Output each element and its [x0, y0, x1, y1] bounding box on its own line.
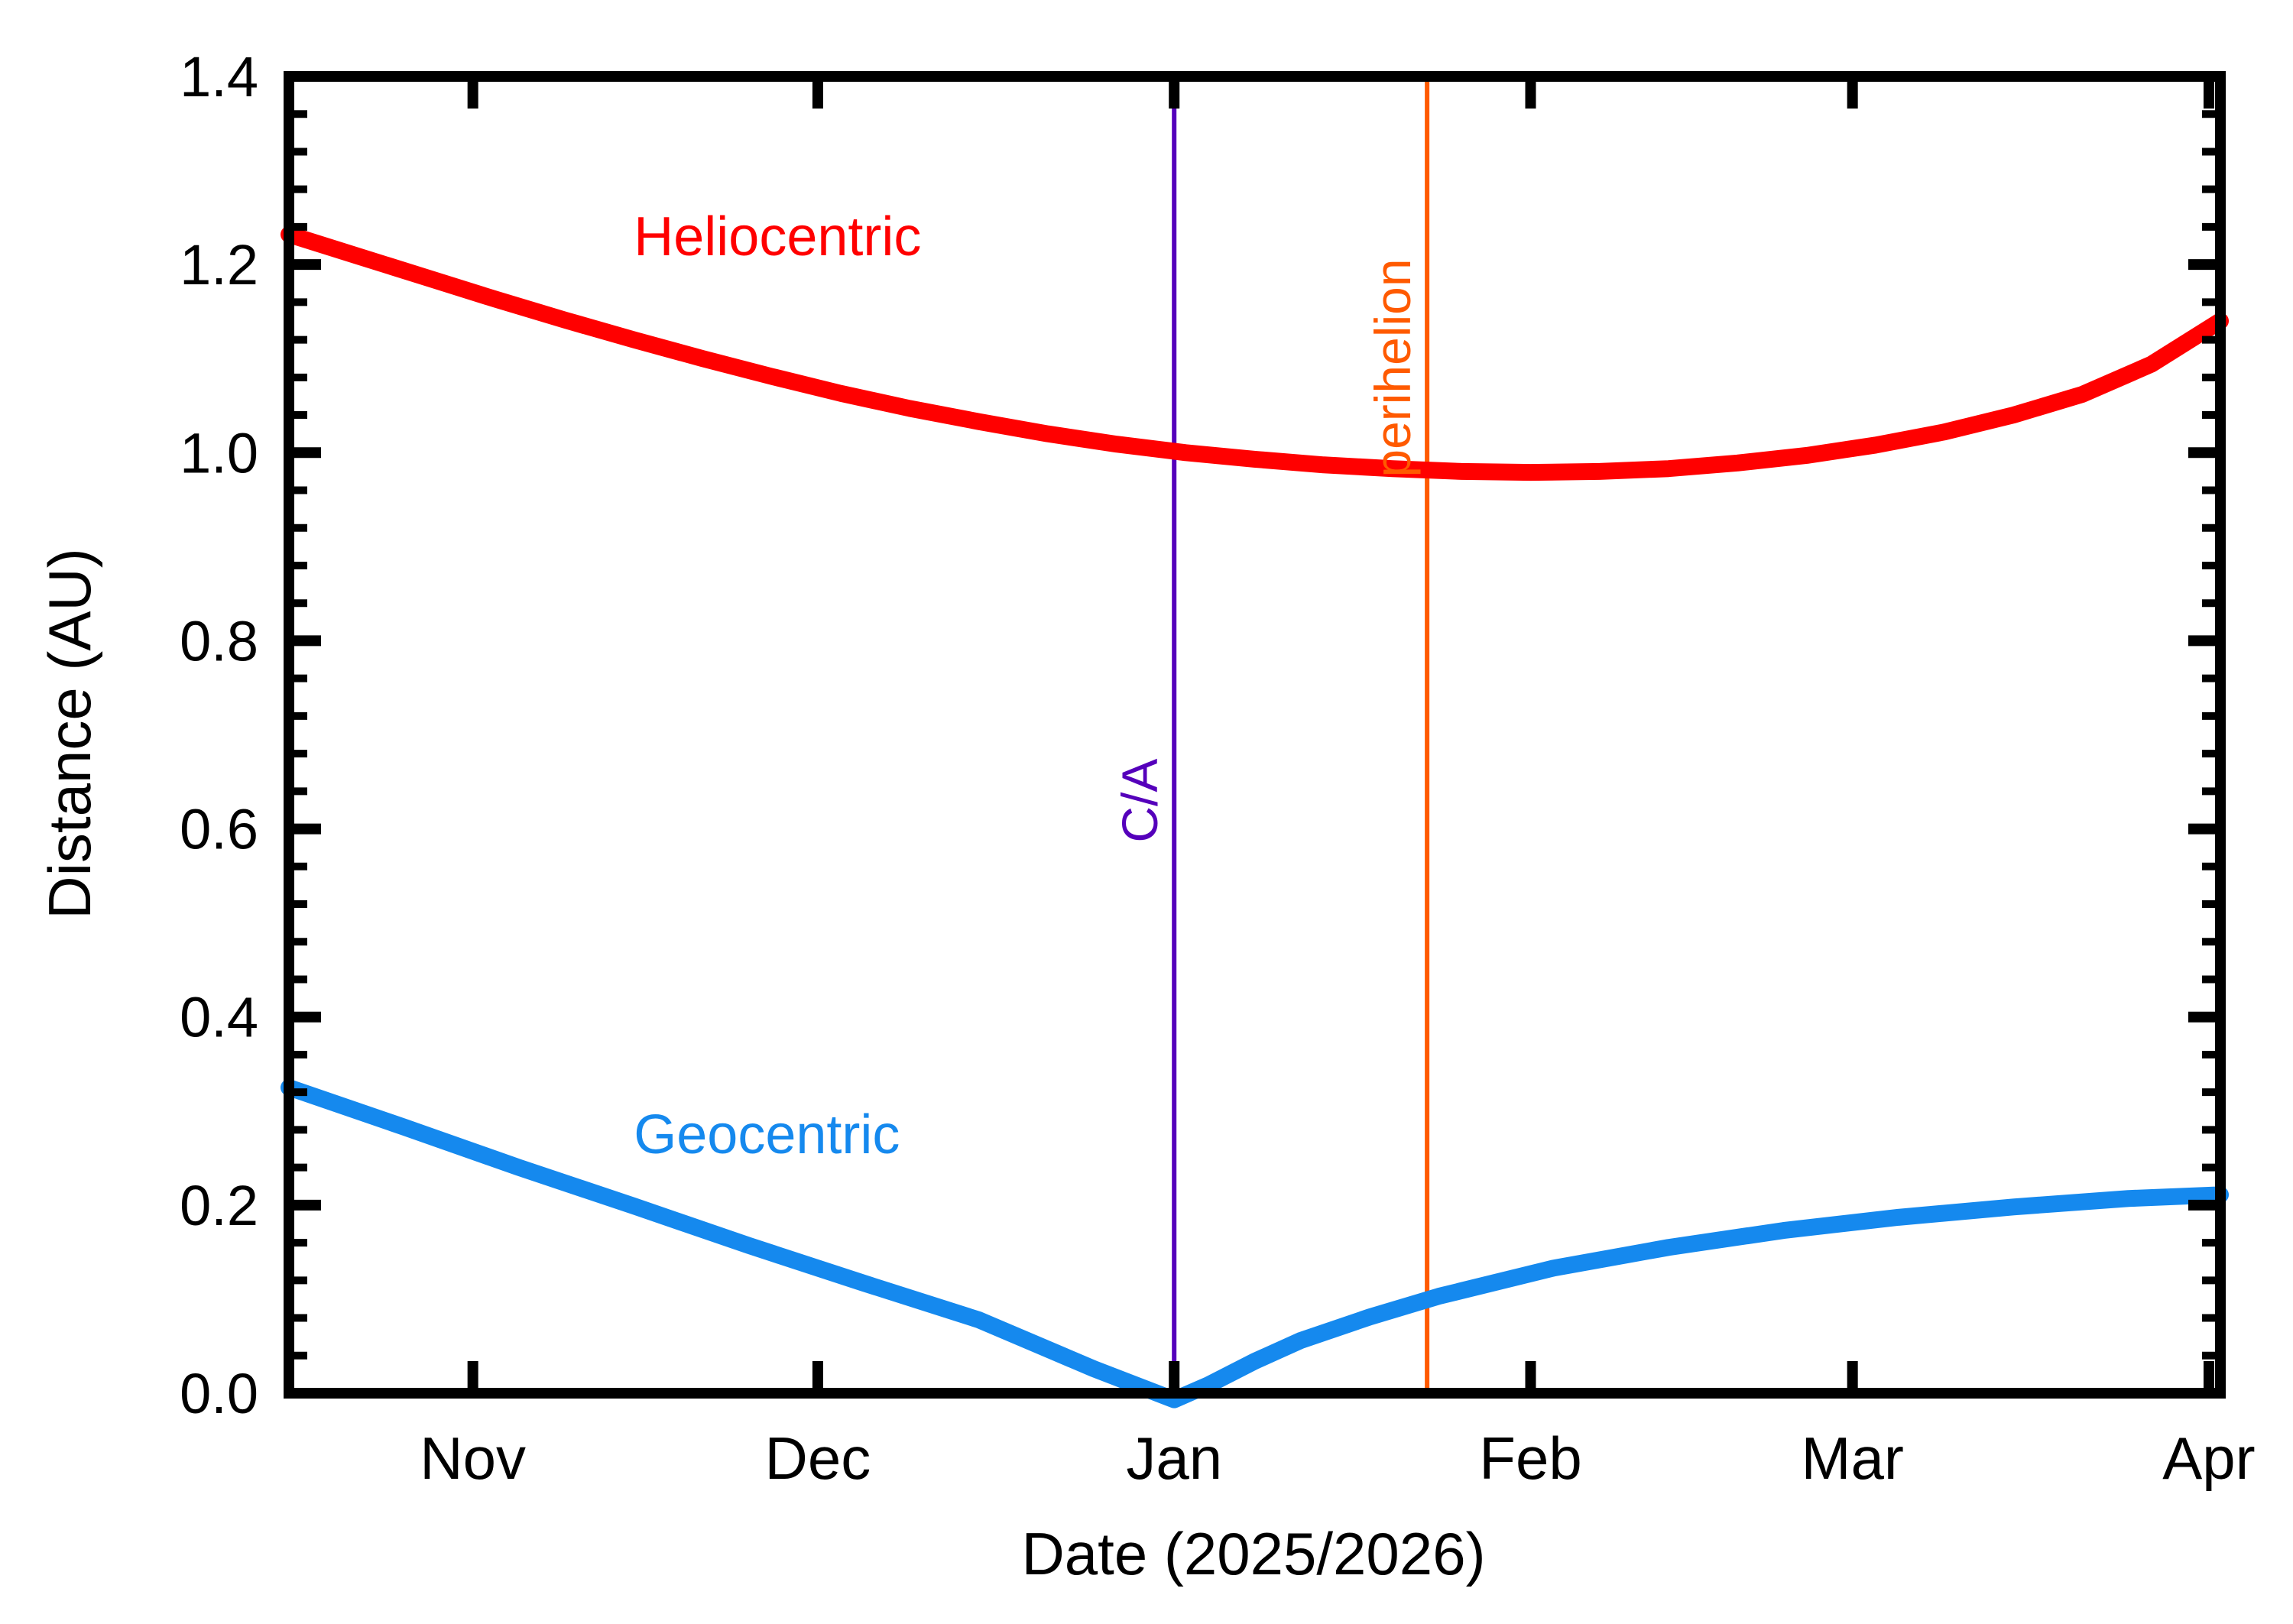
x-axis-title: Date (2025/2026) — [1021, 1520, 1485, 1587]
x-tick-label: Apr — [2162, 1425, 2255, 1492]
x-tick-label: Dec — [765, 1425, 871, 1492]
y-tick-label: 0.4 — [180, 986, 258, 1049]
y-tick-label: 1.2 — [180, 233, 258, 297]
x-tick-label: Jan — [1126, 1425, 1222, 1492]
x-tick-label: Nov — [420, 1425, 526, 1492]
y-axis-title: Distance (AU) — [36, 548, 103, 919]
x-tick-label: Mar — [1801, 1425, 1903, 1492]
series-label-geocentric: Geocentric — [634, 1104, 900, 1165]
y-tick-label: 1.0 — [180, 421, 258, 485]
y-tick-label: 0.8 — [180, 609, 258, 673]
event-label-perihelion: perihelion — [1364, 258, 1421, 477]
chart-figure: Distance (AU) 0.00.20.40.60.81.01.21.4 N… — [0, 0, 2293, 1624]
y-tick-label: 0.0 — [180, 1362, 258, 1425]
distance-vs-date-plot: Distance (AU) 0.00.20.40.60.81.01.21.4 N… — [0, 0, 2293, 1624]
series-label-heliocentric: Heliocentric — [634, 206, 921, 267]
y-tick-label: 1.4 — [180, 45, 258, 109]
y-tick-label: 0.2 — [180, 1174, 258, 1237]
y-tick-label: 0.6 — [180, 798, 258, 861]
x-tick-label: Feb — [1479, 1425, 1581, 1492]
event-label-c-a: C/A — [1111, 759, 1168, 843]
